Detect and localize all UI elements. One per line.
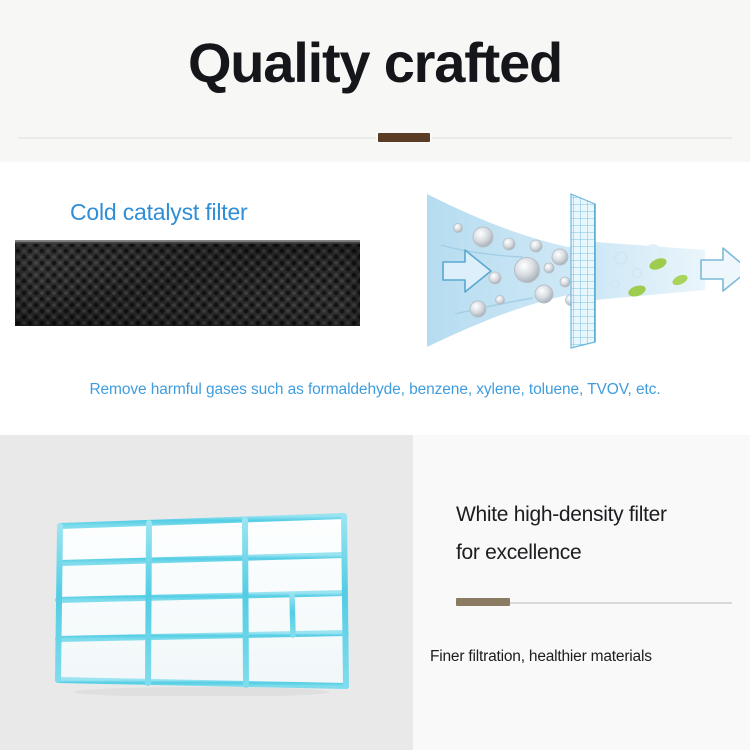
cold-catalyst-caption: Remove harmful gases such as formaldehyd… xyxy=(0,380,750,400)
filter-mesh-panel xyxy=(571,194,595,348)
header-divider-line xyxy=(18,137,732,139)
carbon-honeycomb-filter-image xyxy=(15,242,360,326)
header-accent-bar xyxy=(378,133,430,142)
white-high-density-filter-frame xyxy=(52,508,352,696)
white-filter-heading-line1: White high-density filter xyxy=(456,496,736,534)
header-banner: Quality crafted xyxy=(0,0,750,162)
outlet-arrow-icon xyxy=(701,248,740,291)
cold-catalyst-section: Cold catalyst filter xyxy=(0,162,750,435)
page-title: Quality crafted xyxy=(0,33,750,93)
white-filter-caption: Finer filtration, healthier materials xyxy=(430,647,730,667)
product-infographic: Quality crafted Cold catalyst filter xyxy=(0,0,750,750)
white-filter-heading: White high-density filter for excellence xyxy=(456,496,736,572)
carbon-filter-top-edge xyxy=(15,240,360,244)
white-filter-heading-line2: for excellence xyxy=(456,534,736,572)
airflow-filtration-diagram xyxy=(405,190,740,350)
white-filter-accent-bar xyxy=(456,598,510,606)
filter-drop-shadow xyxy=(74,687,330,696)
clean-airflow-stream xyxy=(595,242,705,300)
cold-catalyst-title: Cold catalyst filter xyxy=(70,198,248,226)
